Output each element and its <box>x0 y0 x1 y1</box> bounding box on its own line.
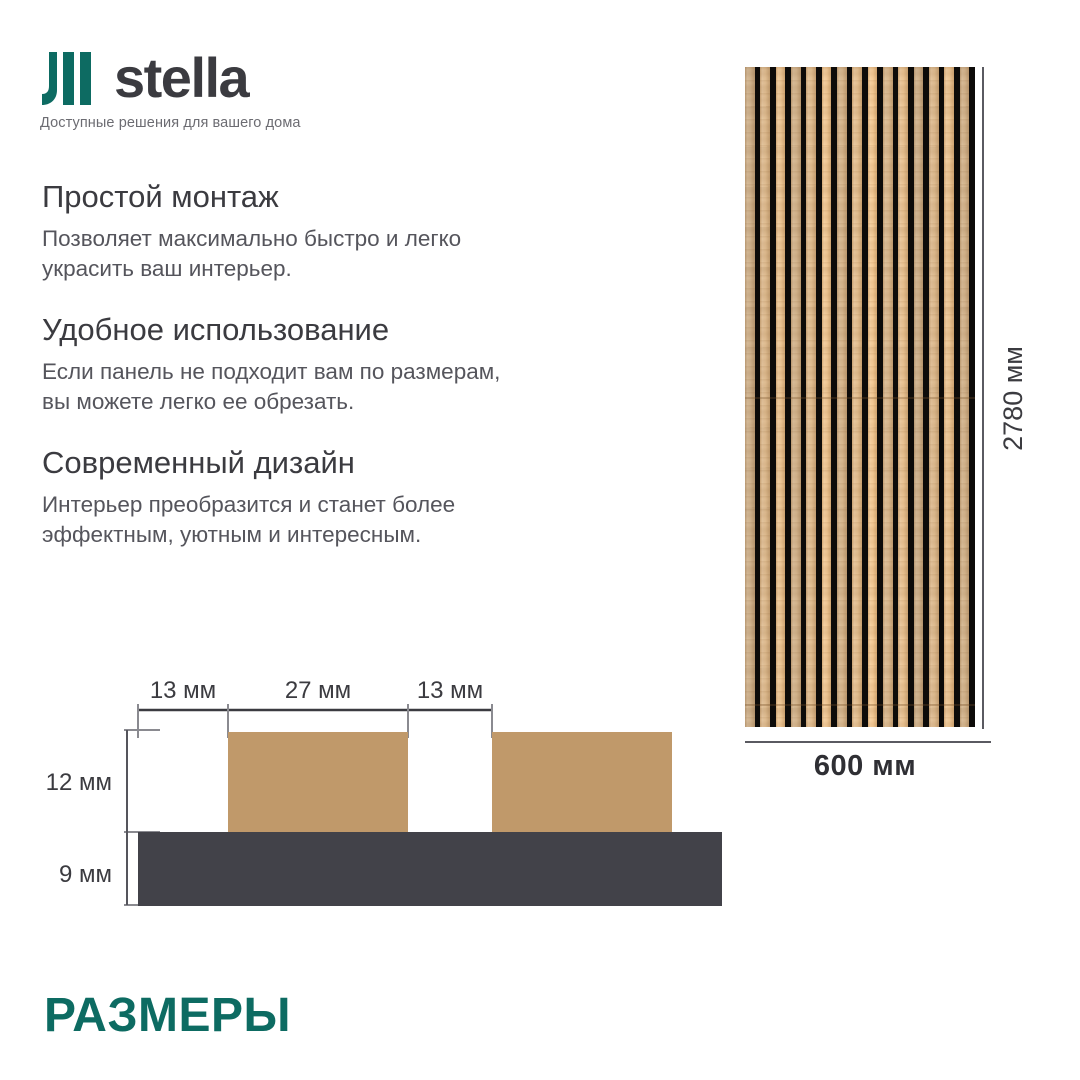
panel-slat <box>944 67 954 727</box>
panel-slat <box>822 67 832 727</box>
feature-body: Интерьер преобразится и станет более эфф… <box>42 490 662 549</box>
feature-item-design: Современный дизайн Интерьер преобразится… <box>42 444 662 549</box>
label-base-height: 9 мм <box>59 861 112 888</box>
panel-slat <box>883 67 893 727</box>
panel-height-dimension <box>975 67 991 729</box>
feature-item-montage: Простой монтаж Позволяет максимально быс… <box>42 178 662 283</box>
sizes-heading: РАЗМЕРЫ <box>44 988 291 1043</box>
brand-tagline: Доступные решения для вашего дома <box>40 115 460 131</box>
feature-body: Если панель не подходит вам по размерам,… <box>42 357 662 416</box>
panel-slat <box>745 67 755 727</box>
feature-item-usage: Удобное использование Если панель не под… <box>42 311 662 416</box>
panel-slat <box>898 67 908 727</box>
feature-title: Удобное использование <box>42 311 662 349</box>
feature-body: Позволяет максимально быстро и легко укр… <box>42 224 662 283</box>
panel-slat <box>929 67 939 727</box>
brand-logo: stella Доступные решения для вашего дома <box>40 48 460 131</box>
panel-width-dimension <box>745 735 991 749</box>
feature-title: Простой монтаж <box>42 178 662 216</box>
cross-section-base <box>138 832 722 906</box>
panel-height-label-wrap: 2780 мм <box>991 67 1035 729</box>
cross-section-slat-1 <box>228 732 408 832</box>
slat-panel-image <box>745 67 975 727</box>
label-gap-right: 13 мм <box>417 677 483 704</box>
panel-slat <box>760 67 770 727</box>
panel-slat <box>837 67 847 727</box>
panel-slat <box>852 67 862 727</box>
panel-width-label: 600 мм <box>700 750 1030 783</box>
panel-slat <box>914 67 924 727</box>
panel-slat <box>791 67 801 727</box>
panel-slat <box>806 67 816 727</box>
brand-wordmark: stella <box>114 51 248 106</box>
panel-height-line <box>982 67 984 729</box>
label-slat-height: 12 мм <box>46 769 112 796</box>
label-gap-left: 13 мм <box>150 677 216 704</box>
stella-bars-logo-icon <box>40 50 102 106</box>
panel-width-line <box>745 741 991 743</box>
panel-height-label: 2780 мм <box>998 346 1029 451</box>
label-slat-width: 27 мм <box>285 677 351 704</box>
infographic-page: stella Доступные решения для вашего дома… <box>0 0 1080 1080</box>
logo-row: stella <box>40 48 460 106</box>
panel-slat <box>776 67 786 727</box>
panel-slat <box>960 67 970 727</box>
panel-slat <box>868 67 878 727</box>
feature-title: Современный дизайн <box>42 444 662 482</box>
feature-list: Простой монтаж Позволяет максимально быс… <box>42 178 662 550</box>
cross-section-diagram: 13 мм 27 мм 13 мм 12 мм 9 мм <box>0 660 760 930</box>
panel-slats <box>745 67 975 727</box>
cross-section-slat-2 <box>492 732 672 832</box>
